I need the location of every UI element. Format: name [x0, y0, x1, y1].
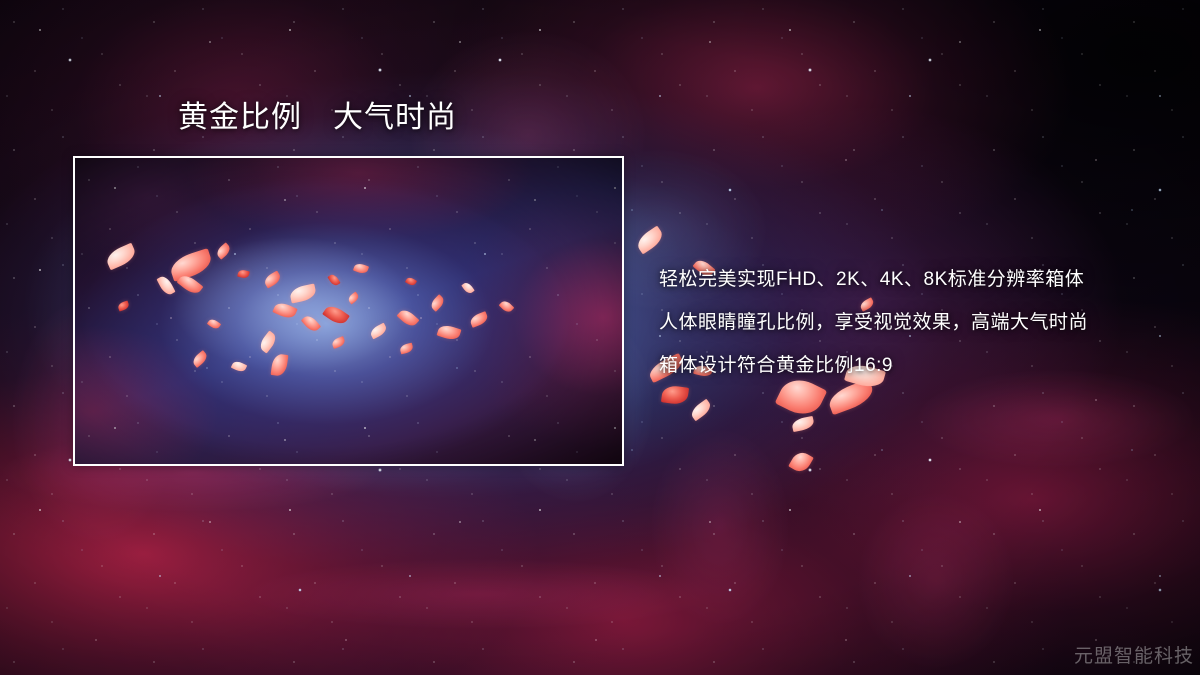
body-line-2: 人体眼睛瞳孔比例，享受视觉效果，高端大气时尚 — [659, 301, 1179, 344]
body-line-3: 箱体设计符合黄金比例16:9 — [659, 344, 1179, 387]
presentation-slide: 黄金比例 大气时尚 轻松完美实现FHD、2K、4K、8K标准分辨率箱体 人体眼睛… — [0, 0, 1200, 675]
flower-petal — [791, 416, 815, 432]
flower-petal — [689, 399, 714, 422]
flower-petal — [661, 384, 689, 405]
flower-petal — [788, 449, 814, 475]
framed-photo-panel — [73, 156, 624, 466]
body-line-1: 轻松完美实现FHD、2K、4K、8K标准分辨率箱体 — [659, 258, 1179, 301]
framed-photo-content — [75, 158, 622, 464]
watermark-label: 元盟智能科技 — [1074, 645, 1194, 669]
framed-photo-vignette — [75, 158, 622, 464]
page-title: 黄金比例 大气时尚 — [178, 101, 457, 135]
body-text-block: 轻松完美实现FHD、2K、4K、8K标准分辨率箱体 人体眼睛瞳孔比例，享受视觉效… — [659, 258, 1179, 387]
flower-petal — [634, 226, 666, 255]
